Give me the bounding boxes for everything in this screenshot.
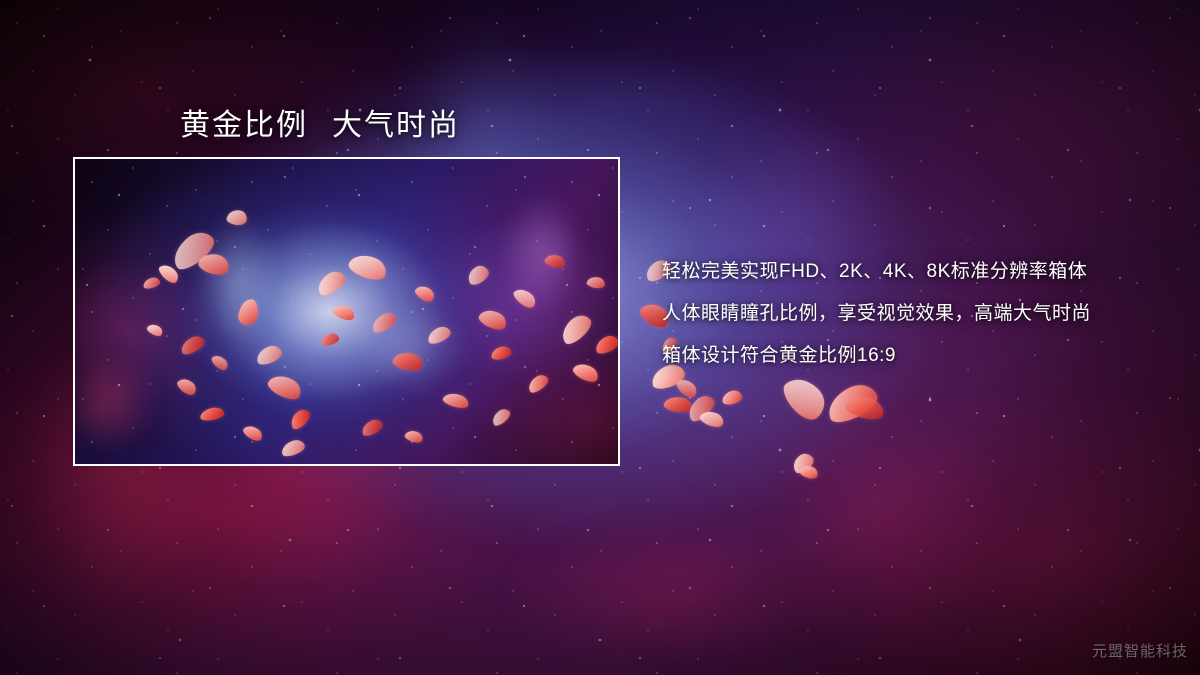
framed-nebula-wisps — [75, 159, 618, 464]
slide-title-part2: 大气时尚 — [332, 109, 460, 142]
framed-image-content — [75, 159, 618, 464]
framed-image — [73, 157, 620, 466]
company-watermark: 元盟智能科技 — [1092, 640, 1188, 661]
presentation-slide: 黄金比例大气时尚 轻松完美实现FHD、2K、4K、8K标准分辨率箱体 人体眼睛瞳… — [0, 0, 1200, 675]
petal-shape — [822, 379, 882, 428]
feature-line-2: 人体眼睛瞳孔比例，享受视觉效果，高端大气时尚 — [662, 300, 1091, 328]
petal-shape — [798, 463, 819, 480]
petal-shape — [778, 370, 832, 426]
feature-line-1: 轻松完美实现FHD、2K、4K、8K标准分辨率箱体 — [662, 258, 1091, 286]
feature-description-list: 轻松完美实现FHD、2K、4K、8K标准分辨率箱体 人体眼睛瞳孔比例，享受视觉效… — [662, 258, 1091, 370]
petal-shape — [663, 395, 693, 415]
petal-shape — [674, 375, 700, 400]
petal-shape — [721, 389, 743, 406]
slide-title: 黄金比例大气时尚 — [180, 100, 460, 144]
petal-shape — [844, 393, 886, 423]
feature-line-3: 箱体设计符合黄金比例16:9 — [662, 342, 1091, 370]
slide-title-part1: 黄金比例 — [180, 109, 308, 142]
petal-shape — [698, 408, 725, 430]
petal-shape — [789, 450, 816, 476]
petal-shape — [684, 391, 719, 424]
